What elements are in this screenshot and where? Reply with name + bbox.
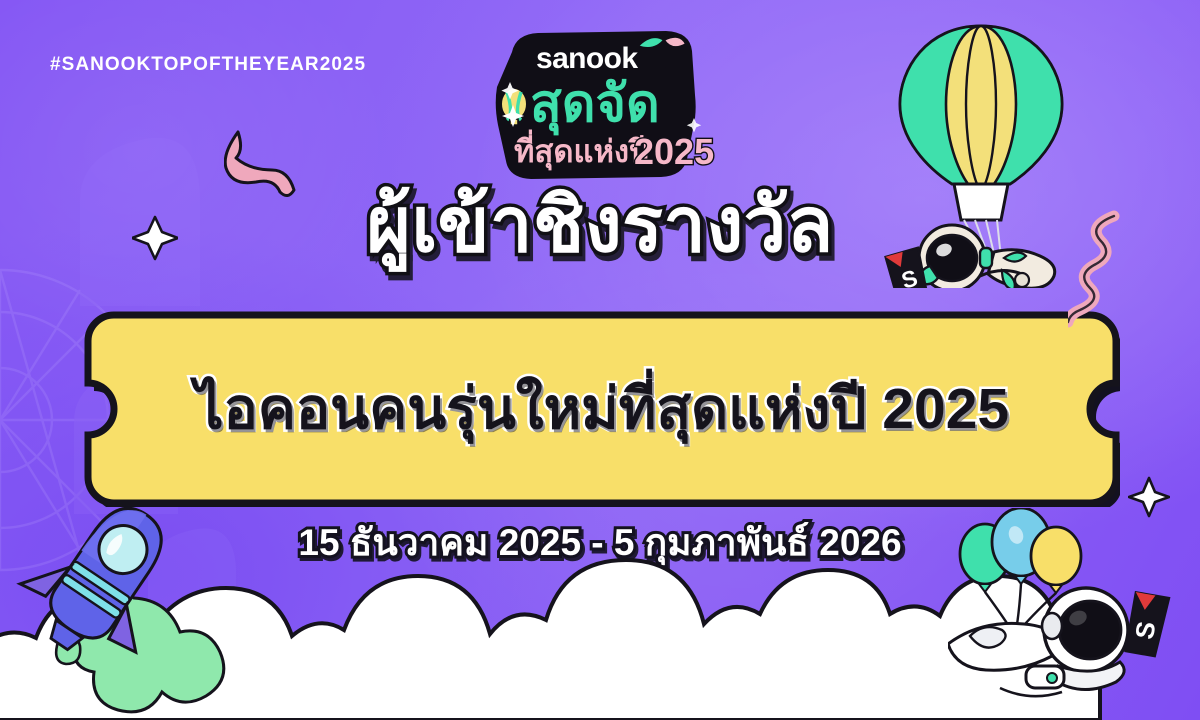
svg-text:2025: 2025 [634, 131, 714, 172]
star-icon [1128, 476, 1170, 518]
page-title: ผู้เข้าชิงรางวัล [0, 188, 1200, 264]
svg-text:สุดจัด: สุดจัด [530, 75, 660, 136]
sanook-flag-icon: S [1125, 592, 1169, 657]
award-ticket[interactable]: ไอคอนคนรุ่นใหม่ที่สุดแห่งปี 2025 [84, 311, 1120, 507]
svg-text:S: S [898, 264, 920, 288]
astronaut-icon [948, 588, 1128, 696]
logo-artwork: sanook สุดจัด ที่สุดแห่งปี 2025 [488, 22, 718, 182]
svg-text:ที่สุดแห่งปี: ที่สุดแห่งปี [514, 129, 649, 171]
sanook-sudjad-logo[interactable]: sanook สุดจัด ที่สุดแห่งปี 2025 [488, 22, 718, 182]
rocket-exhaust-icon [56, 591, 224, 712]
poster-canvas: #SANOOKTOPOFTHEYEAR2025 sanook สุดจัด ที… [0, 0, 1200, 720]
campaign-date-range: 15 ธันวาคม 2025 - 5 กุมภาพันธ์ 2026 [0, 524, 1200, 561]
award-category-label: ไอคอนคนรุ่นใหม่ที่สุดแห่งปี 2025 [84, 311, 1120, 507]
campaign-hashtag: #SANOOKTOPOFTHEYEAR2025 [50, 54, 366, 76]
svg-text:S: S [1129, 619, 1162, 641]
svg-text:sanook: sanook [536, 42, 638, 75]
